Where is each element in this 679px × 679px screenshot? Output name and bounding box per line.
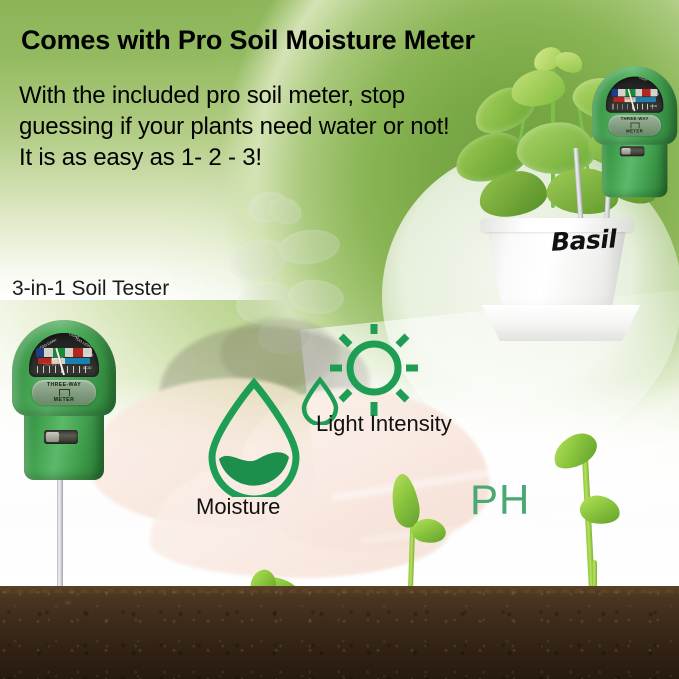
caption-ph: PH: [470, 476, 530, 524]
meter-badge: THREE-WAY METER: [608, 115, 660, 136]
meter-badge-bottom-text: METER: [54, 397, 75, 403]
pot-label-basil: Basil: [550, 224, 617, 256]
dial-label-light: LIGHT: [638, 77, 647, 83]
dial-color-arc-large: [36, 348, 92, 357]
dial-color-arc: [612, 89, 658, 96]
water-drop-icon: [200, 375, 308, 497]
dial-label-wet: WET: [86, 354, 94, 358]
soil-texture: [0, 586, 679, 679]
body-line-1: With the included pro soil meter, stop: [19, 80, 450, 111]
meter-badge-switch-glyph: [59, 389, 70, 396]
dial-label-wet: WET: [653, 93, 659, 96]
dial-label-acid: ACID: [650, 105, 657, 108]
meter-head-large: DRY TOO DARK LIGHT TOO LIGHT MOIST TOO W…: [12, 320, 116, 416]
meter-switch[interactable]: [620, 146, 645, 156]
plant-pot-saucer: [471, 305, 651, 341]
meter-dial-face-large: DRY TOO DARK LIGHT TOO LIGHT MOIST TOO W…: [29, 333, 99, 377]
caption-moisture: Moisture: [196, 494, 280, 520]
meter-badge-large: THREE-WAY METER: [32, 380, 96, 405]
meter-head: DRY LIGHT MOIST WET ACID THREE-WAY METER: [592, 66, 677, 145]
meter-badge-top-text: THREE-WAY: [47, 382, 81, 388]
body-line-2: guessing if your plants need water or no…: [19, 111, 450, 142]
soil-strip: [0, 586, 679, 679]
tester-label: 3-in-1 Soil Tester: [12, 277, 169, 301]
meter-badge-top-text: THREE-WAY: [621, 117, 649, 122]
meter-badge-switch-glyph: [630, 123, 639, 129]
meter-dial-face: DRY LIGHT MOIST WET ACID: [606, 77, 663, 113]
meter-mode-switch[interactable]: [44, 430, 78, 444]
dial-label-dry: DRY: [33, 334, 41, 342]
meter-badge-bottom-text: METER: [626, 129, 643, 134]
page-title: Comes with Pro Soil Moisture Meter: [21, 25, 475, 56]
dial-label-dry: DRY: [610, 77, 617, 83]
product-marketing-banner: DRY LIGHT MOIST WET ACID THREE-WAY METER: [0, 0, 679, 679]
body-line-3: It is as easy as 1- 2 - 3!: [19, 142, 450, 173]
dial-label-too-wet: TOO WET: [43, 363, 59, 367]
caption-light-intensity: Light Intensity: [316, 411, 452, 437]
body-copy: With the included pro soil meter, stop g…: [19, 80, 450, 173]
dial-label-acid: ACID: [83, 366, 92, 370]
